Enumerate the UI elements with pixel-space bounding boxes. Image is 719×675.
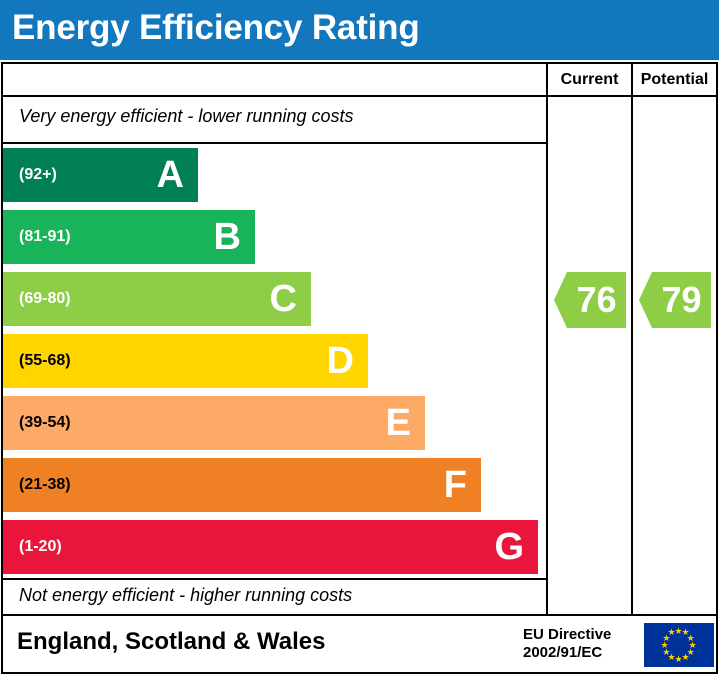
band-g-range: (1-20) — [19, 538, 62, 556]
band-c: (69-80) C — [3, 272, 311, 326]
eu-star-icon: ★ — [675, 655, 683, 664]
footer-directive-line2: 2002/91/EC — [523, 644, 611, 662]
potential-rating-value: 79 — [652, 272, 711, 328]
chart-title-bar: Energy Efficiency Rating — [0, 0, 719, 60]
column-header-potential: Potential — [631, 64, 716, 95]
epc-energy-efficiency-chart: Energy Efficiency Rating Current Potenti… — [0, 0, 719, 675]
band-d-range: (55-68) — [19, 352, 71, 370]
divider-top — [3, 142, 546, 144]
footer-region-label: England, Scotland & Wales — [17, 628, 325, 656]
chart-frame: Current Potential Very energy efficient … — [1, 62, 718, 616]
eu-star-icon: ★ — [668, 628, 676, 637]
eu-flag-icon: ★★★★★★★★★★★★ — [644, 623, 714, 667]
band-c-letter: C — [270, 280, 297, 318]
divider-bottom — [3, 578, 546, 580]
current-rating-value: 76 — [567, 272, 626, 328]
band-b-range: (81-91) — [19, 228, 71, 246]
band-g-letter: G — [494, 528, 524, 566]
band-b-letter: B — [214, 218, 241, 256]
band-a-range: (92+) — [19, 166, 57, 184]
band-f: (21-38) F — [3, 458, 481, 512]
current-rating-arrow: 76 — [554, 272, 626, 328]
chart-footer: England, Scotland & Wales EU Directive 2… — [1, 616, 718, 674]
footer-directive-line1: EU Directive — [523, 626, 611, 644]
band-a: (92+) A — [3, 148, 198, 202]
column-separator-current — [546, 97, 548, 616]
potential-rating-arrow: 79 — [639, 272, 711, 328]
page-title: Energy Efficiency Rating — [12, 8, 420, 48]
band-e-letter: E — [386, 404, 411, 442]
note-inefficient: Not energy efficient - higher running co… — [19, 585, 352, 606]
eu-star-icon: ★ — [682, 653, 690, 662]
current-arrow-point — [554, 272, 567, 328]
band-c-range: (69-80) — [19, 290, 71, 308]
band-b: (81-91) B — [3, 210, 255, 264]
band-d: (55-68) D — [3, 334, 368, 388]
potential-arrow-point — [639, 272, 652, 328]
footer-directive: EU Directive 2002/91/EC — [523, 626, 611, 662]
band-d-letter: D — [327, 342, 354, 380]
band-f-range: (21-38) — [19, 476, 71, 494]
table-header-row: Current Potential — [3, 64, 716, 97]
band-e-range: (39-54) — [19, 414, 71, 432]
band-e: (39-54) E — [3, 396, 425, 450]
band-a-letter: A — [157, 156, 184, 194]
band-g: (1-20) G — [3, 520, 538, 574]
column-separator-potential — [631, 97, 633, 616]
band-f-letter: F — [444, 466, 467, 504]
note-efficient: Very energy efficient - lower running co… — [19, 106, 354, 127]
column-header-current: Current — [546, 64, 631, 95]
